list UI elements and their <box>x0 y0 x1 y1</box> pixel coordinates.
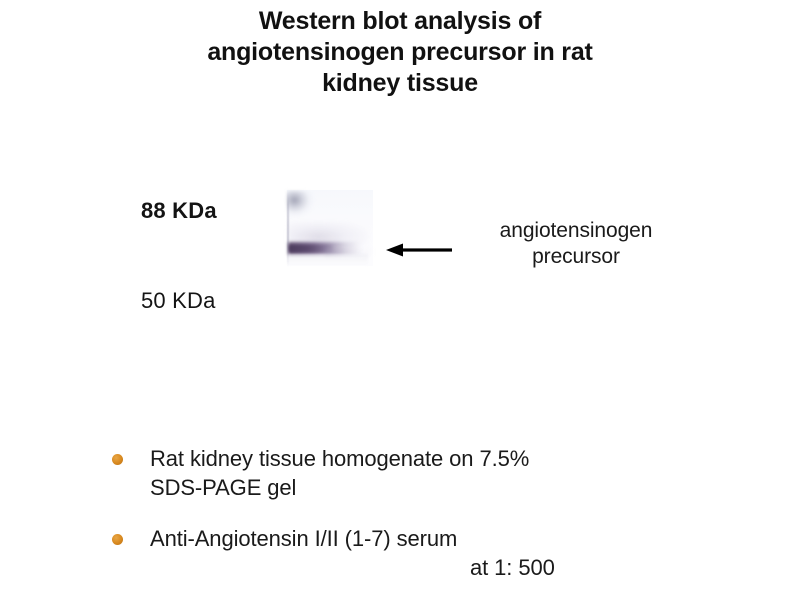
molecular-weight-marker-88kda: 88 KDa <box>141 198 217 224</box>
list-item-text: Rat kidney tissue homogenate on 7.5% SDS… <box>150 444 732 502</box>
list-item-line: Rat kidney tissue homogenate on 7.5% <box>150 444 732 473</box>
list-item-line-dilution: at 1: 500 <box>150 553 732 582</box>
list-item-text: Anti-Angiotensin I/II (1-7) serum at 1: … <box>150 524 732 582</box>
figure-title-line-1: Western blot analysis of <box>150 6 650 37</box>
bullet-dot-icon <box>112 454 123 465</box>
callout-label-line-1: angiotensinogen <box>455 218 697 244</box>
blot-smear-upper <box>287 191 321 217</box>
method-notes-list: Rat kidney tissue homogenate on 7.5% SDS… <box>112 444 732 600</box>
list-item: Rat kidney tissue homogenate on 7.5% SDS… <box>112 444 732 502</box>
list-item: Anti-Angiotensin I/II (1-7) serum at 1: … <box>112 524 732 582</box>
figure-title: Western blot analysis of angiotensinogen… <box>150 6 650 99</box>
callout-label-line-2: precursor <box>455 244 697 270</box>
blot-lane-lower-area <box>288 254 368 266</box>
blot-lane-image <box>285 188 375 268</box>
callout-arrow-icon <box>386 240 452 260</box>
molecular-weight-marker-50kda: 50 KDa <box>141 288 216 314</box>
callout-label: angiotensinogen precursor <box>455 218 697 270</box>
list-item-line: Anti-Angiotensin I/II (1-7) serum <box>150 524 732 553</box>
figure-title-line-2: angiotensinogen precursor in rat <box>150 37 650 68</box>
western-blot-figure: Western blot analysis of angiotensinogen… <box>0 0 800 600</box>
bullet-dot-icon <box>112 534 123 545</box>
list-item-line: SDS-PAGE gel <box>150 473 732 502</box>
figure-title-line-3: kidney tissue <box>150 68 650 99</box>
